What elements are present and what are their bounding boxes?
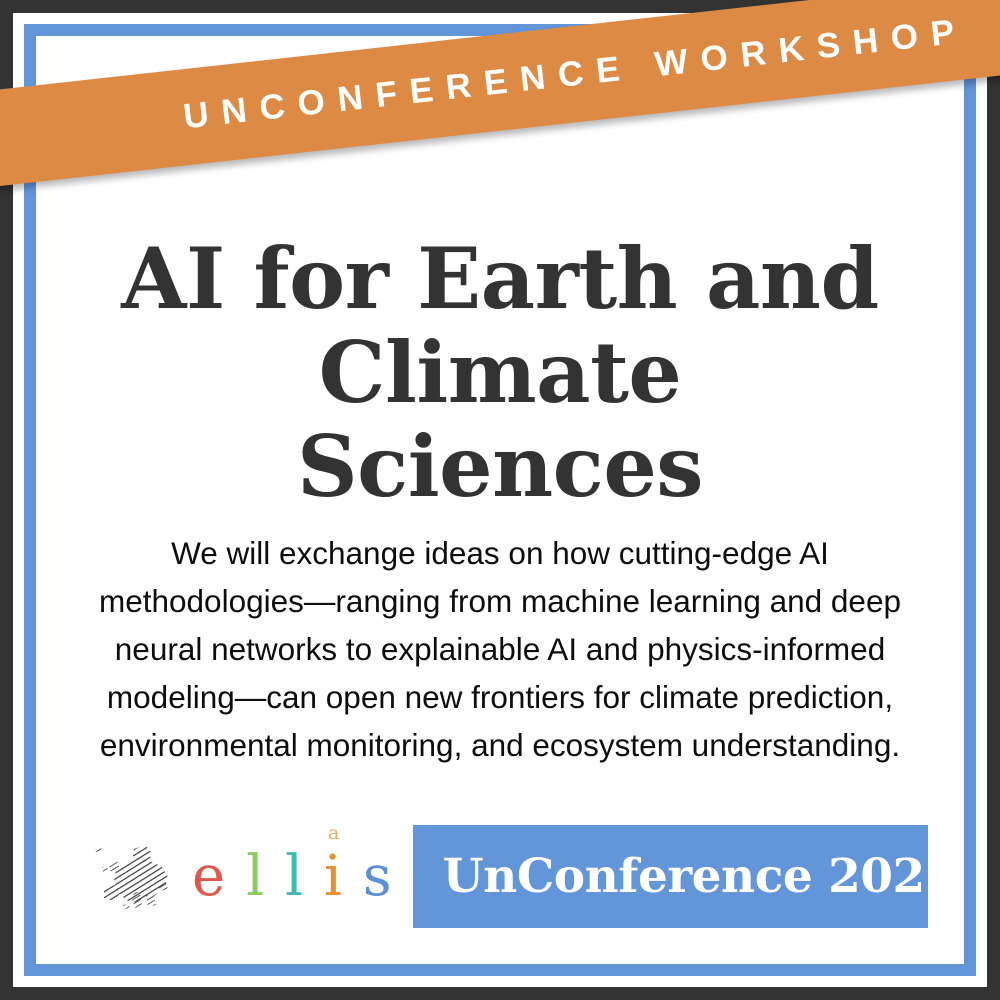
poster-content-area: AI for Earth and Climate Sciences We wil… — [72, 72, 928, 928]
poster-canvas: AI for Earth and Climate Sciences We wil… — [0, 0, 1000, 1000]
ellis-letter-s: s — [363, 844, 413, 909]
ellis-letter-i-glyph: i — [324, 844, 363, 909]
ellis-logo: ellias — [90, 841, 413, 913]
ellis-wordmark: ellias — [192, 849, 413, 905]
page-title-line-2: Climate Sciences — [112, 326, 888, 514]
europe-map-hatched-icon — [90, 841, 176, 913]
ellis-letter-i: ia — [324, 844, 363, 909]
footer-logo-area: ellias — [72, 825, 413, 928]
event-name-bar: UnConference 2025 — [413, 825, 928, 928]
ellis-letter-l2: l — [285, 844, 324, 909]
page-title-line-1: AI for Earth and — [112, 232, 888, 326]
event-name-label: UnConference 2025 — [443, 849, 928, 904]
footer-bar: ellias UnConference 2025 — [72, 825, 928, 928]
description-paragraph: We will exchange ideas on how cutting-ed… — [72, 529, 928, 770]
ellis-letter-l1: l — [246, 844, 285, 909]
ellis-superscript-a: a — [328, 824, 339, 843]
ellis-letter-e: e — [192, 844, 246, 909]
page-title: AI for Earth and Climate Sciences — [72, 232, 928, 514]
